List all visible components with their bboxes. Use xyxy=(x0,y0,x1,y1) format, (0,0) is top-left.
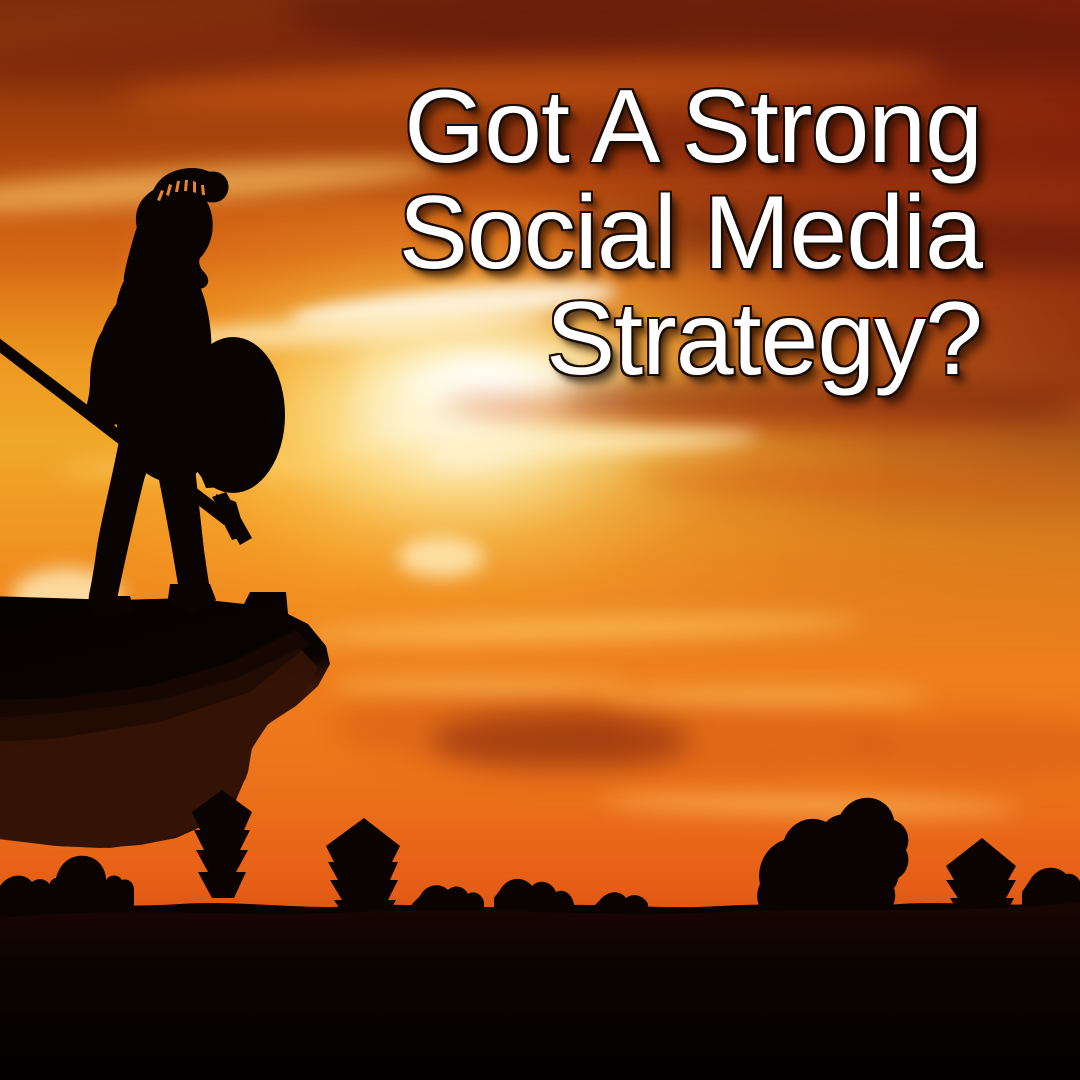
tree-conifer-1 xyxy=(192,790,252,898)
headline-line-3: Strategy? xyxy=(282,286,982,392)
headline-block: Got A Strong Social Media Strategy? xyxy=(282,74,982,392)
poster-canvas: Got A Strong Social Media Strategy? xyxy=(0,0,1080,1080)
tree-conifer-2 xyxy=(326,818,400,918)
headline-line-1: Got A Strong xyxy=(282,74,982,180)
headline-line-2: Social Media xyxy=(282,180,982,286)
ground-plane xyxy=(0,902,1080,1080)
spear-tip xyxy=(216,494,246,540)
cliff-outcrop xyxy=(0,592,330,848)
warrior-silhouette xyxy=(0,168,285,616)
